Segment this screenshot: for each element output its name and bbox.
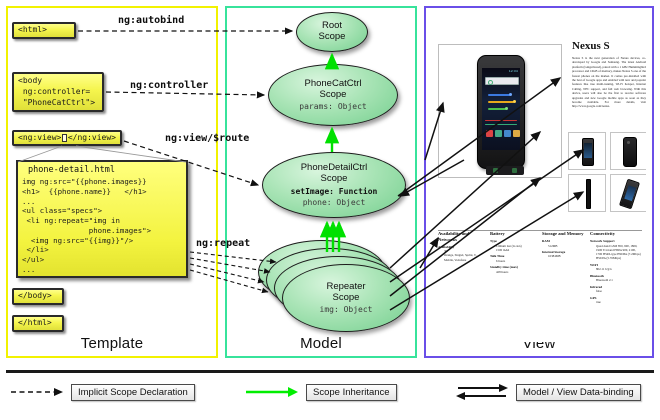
scope-root-title-2: Scope xyxy=(319,32,346,43)
specs-value-ram: 512MB xyxy=(548,244,590,248)
phone-accent-line-2 xyxy=(488,101,514,103)
specs-value-bluetooth: Bluetooth 2.1 xyxy=(596,278,642,282)
phone-hero-image: 12:34 xyxy=(438,44,562,178)
phone-app-icon-row xyxy=(486,130,522,137)
scope-repeater-title-2: Scope xyxy=(333,293,360,304)
scope-repeater-title-1: Repeater xyxy=(326,282,365,293)
scope-repeater-prop-img: img: Object xyxy=(320,305,373,314)
phone-accent-bar-1 xyxy=(485,120,517,121)
legend-label-data-binding: Model / View Data-binding xyxy=(516,384,641,401)
specs-value-battery-standby: 428 hours xyxy=(496,270,538,274)
phone-softkey-bar xyxy=(486,166,524,175)
phone-search-widget xyxy=(485,77,519,85)
file-callout-code: img ng:src="{{phone.images}} <h1> {{phon… xyxy=(18,177,186,275)
thumb-angle-glyph xyxy=(619,179,640,210)
product-description: Nexus S is the next generation of Nexus … xyxy=(572,56,646,109)
scope-repeater-front: Repeater Scope img: Object xyxy=(282,264,410,332)
thumbnail-phone-side[interactable] xyxy=(568,174,606,212)
legend-divider xyxy=(6,370,654,373)
specs-header-storage: Storage and Memory xyxy=(542,231,590,237)
panel-model-label: Model xyxy=(227,335,415,352)
specs-value-battery-type-1: 1500 mAh xyxy=(496,248,538,252)
specs-column-availability: Availability and Networks Availability 3… xyxy=(438,231,486,262)
phone-app-icon-3 xyxy=(504,130,511,137)
view-rendered-page: 12:34 xyxy=(432,14,646,342)
legend-dashed-arrow-icon xyxy=(10,386,64,398)
thumbnail-phone-angle[interactable] xyxy=(610,174,646,212)
code-box-html-close: </html> xyxy=(12,315,64,332)
specs-value-battery-talktime: 6 hours xyxy=(496,259,538,263)
scope-phonedetailctrl: PhoneDetailCtrl Scope setImage: Function… xyxy=(262,152,406,218)
thumbnail-phone-front[interactable] xyxy=(568,132,606,170)
legend-item-implicit-scope: Implicit Scope Declaration xyxy=(10,382,195,402)
annotation-ng-repeat: ng:repeat xyxy=(196,238,250,249)
scope-phonedetailctrl-title-2: Scope xyxy=(321,174,348,185)
specs-table: Availability and Networks Availability 3… xyxy=(438,230,642,234)
file-callout-title: phone-detail.html xyxy=(18,162,186,177)
phone-softkey-1 xyxy=(493,168,498,173)
legend-item-data-binding: Model / View Data-binding xyxy=(455,382,641,402)
legend-label-scope-inheritance: Scope Inheritance xyxy=(306,384,397,401)
phone-app-icon-2 xyxy=(495,130,502,137)
ngview-close-tag: </ng:view> xyxy=(68,133,116,144)
thumb-front-glyph xyxy=(582,138,594,166)
scope-repeater-stack: Repeater Scope img: Object xyxy=(258,240,408,336)
specs-value-wifi: 802.11 b/g/n xyxy=(596,267,642,271)
scope-root: Root Scope xyxy=(296,12,368,52)
phone-accent-line-3 xyxy=(488,108,506,110)
ngview-open-tag: <ng:view> xyxy=(18,133,61,144)
specs-header-battery: Battery xyxy=(490,231,538,237)
phone-screen: 12:34 xyxy=(482,68,520,150)
specs-column-storage: Storage and Memory RAM 512MB Internal St… xyxy=(542,231,590,259)
scope-phonecatctrl-title-2: Scope xyxy=(320,90,347,101)
phone-accent-dot-2 xyxy=(513,100,516,103)
thumb-side-glyph xyxy=(586,179,591,209)
specs-value-availability-1: Orange, Singtel, Sprint, T-Mobile, Vodaf… xyxy=(444,253,486,261)
thumb-back-glyph xyxy=(623,137,637,167)
code-box-body-close: </body> xyxy=(12,288,64,305)
specs-value-internal-storage: 16384MB xyxy=(548,254,590,258)
ngview-placeholder-glyph xyxy=(62,134,66,142)
panel-template-label: Template xyxy=(8,335,216,352)
scope-phonecatctrl-prop-params: params: Object xyxy=(299,102,366,111)
specs-value-infrared: false xyxy=(596,289,642,293)
specs-value-network-support: Quad-band GSM 850, 900, 1800, 1900 Tri-b… xyxy=(596,244,642,261)
phone-accent-dot-3 xyxy=(505,107,508,110)
legend-label-implicit-scope: Implicit Scope Declaration xyxy=(71,384,195,401)
scope-phonecatctrl: PhoneCatCtrl Scope params: Object xyxy=(268,64,398,126)
scope-phonedetailctrl-prop-setimage: setImage: Function xyxy=(291,187,378,196)
specs-column-battery: Battery Type Lithium Ion (Li-Ion) 1500 m… xyxy=(490,231,538,274)
code-box-ngview: <ng:view> </ng:view> xyxy=(12,130,122,146)
code-box-body-open: <body ng:controller= "PhoneCatCtrl"> xyxy=(12,72,104,112)
scope-phonedetailctrl-prop-phone: phone: Object xyxy=(303,198,366,207)
phone-app-icon-4 xyxy=(513,130,520,137)
phone-body: 12:34 xyxy=(477,55,525,169)
phone-accent-line-1 xyxy=(488,94,510,96)
phone-app-icon-1 xyxy=(486,130,493,137)
phone-softkey-2 xyxy=(512,168,517,173)
annotation-ng-autobind: ng:autobind xyxy=(118,15,184,26)
code-box-html-open: <html> xyxy=(12,22,76,39)
scope-phonecatctrl-title-1: PhoneCatCtrl xyxy=(304,79,361,90)
diagram-canvas: Template Model View <html> <body ng:cont… xyxy=(0,0,660,420)
thumbnail-phone-back[interactable] xyxy=(610,132,646,170)
legend-item-scope-inheritance: Scope Inheritance xyxy=(245,382,397,402)
legend-double-arrow-icon xyxy=(455,383,509,401)
phone-statusbar-time: 12:34 xyxy=(509,69,518,73)
phone-accent-dot-1 xyxy=(509,93,512,96)
annotation-ng-view-route: ng:view/$route xyxy=(165,133,249,144)
phone-accent-bar-2 xyxy=(485,124,517,125)
legend-green-arrow-icon xyxy=(245,386,299,398)
file-callout-phone-detail: phone-detail.html img ng:src="{{phone.im… xyxy=(16,160,188,278)
specs-column-connectivity: Connectivity Network Support Quad-band G… xyxy=(590,231,642,304)
product-title: Nexus S xyxy=(572,40,610,52)
specs-header-connectivity: Connectivity xyxy=(590,231,642,237)
specs-value-gps: true xyxy=(596,300,642,304)
specs-header-availability: Availability and Networks xyxy=(438,231,486,242)
annotation-ng-controller: ng:controller xyxy=(130,80,208,91)
